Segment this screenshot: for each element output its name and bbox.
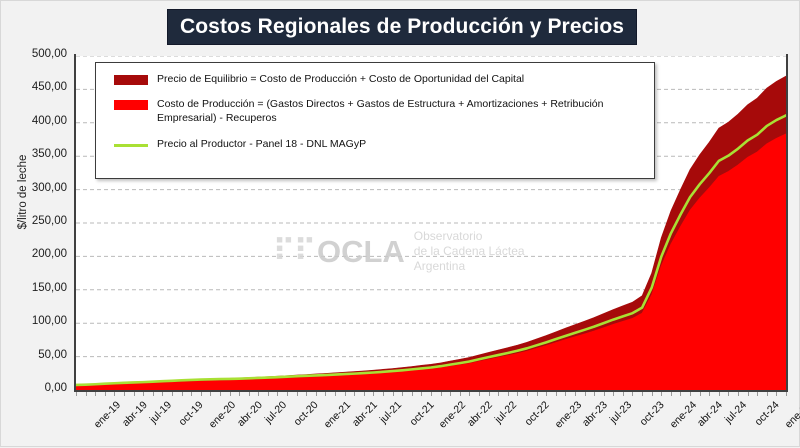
x-tick-mark — [76, 392, 77, 396]
y-tick-label: 100,00 — [9, 315, 67, 327]
x-tick-mark — [565, 392, 566, 396]
x-tick-mark — [479, 392, 480, 396]
x-tick-mark — [450, 392, 451, 396]
x-tick-mark — [239, 392, 240, 396]
x-tick-label: ene-25 — [782, 399, 800, 431]
y-tick-label: 500,00 — [9, 48, 67, 60]
y-tick-label: 350,00 — [9, 148, 67, 160]
x-tick-mark — [105, 392, 106, 396]
x-tick-label: oct-21 — [407, 399, 436, 428]
plot-right-border — [786, 54, 788, 392]
x-tick-mark — [613, 392, 614, 396]
x-tick-label: jul-21 — [377, 399, 404, 426]
x-tick-mark — [671, 392, 672, 396]
x-tick-mark — [431, 392, 432, 396]
x-tick-label: abr-19 — [120, 399, 150, 429]
y-tick-label: 450,00 — [9, 81, 67, 93]
x-tick-mark — [642, 392, 643, 396]
x-tick-label: ene-20 — [207, 399, 239, 431]
x-tick-label: abr-24 — [695, 399, 725, 429]
x-tick-label: ene-22 — [437, 399, 469, 431]
x-tick-mark — [172, 392, 173, 396]
x-tick-mark — [162, 392, 163, 396]
x-tick-mark — [690, 392, 691, 396]
x-tick-mark — [517, 392, 518, 396]
x-tick-mark — [143, 392, 144, 396]
chart-title: Costos Regionales de Producción y Precio… — [167, 9, 637, 45]
x-tick-mark — [182, 392, 183, 396]
x-tick-label: ene-19 — [92, 399, 124, 431]
legend-item-precio-equilibrio: Precio de Equilibrio = Costo de Producci… — [106, 72, 644, 86]
x-tick-mark — [776, 392, 777, 396]
x-tick-label: jul-20 — [262, 399, 289, 426]
x-tick-mark — [306, 392, 307, 396]
legend-item-precio-productor: Precio al Productor - Panel 18 - DNL MAG… — [106, 137, 644, 151]
chart-container: Costos Regionales de Producción y Precio… — [0, 0, 800, 447]
y-axis-ticks: 0,0050,00100,00150,00200,00250,00300,003… — [5, 1, 67, 448]
x-tick-mark — [277, 392, 278, 396]
legend-swatch-precio-productor — [114, 144, 148, 147]
legend-item-costo-produccion: Costo de Producción = (Gastos Directos +… — [106, 97, 644, 125]
x-tick-mark — [383, 392, 384, 396]
x-tick-mark — [748, 392, 749, 396]
x-tick-mark — [469, 392, 470, 396]
y-tick-label: 150,00 — [9, 282, 67, 294]
x-tick-label: abr-23 — [580, 399, 610, 429]
x-tick-mark — [220, 392, 221, 396]
x-tick-mark — [249, 392, 250, 396]
x-tick-mark — [86, 392, 87, 396]
y-tick-label: 200,00 — [9, 248, 67, 260]
x-tick-mark — [757, 392, 758, 396]
x-tick-mark — [201, 392, 202, 396]
x-tick-label: oct-24 — [753, 399, 782, 428]
x-tick-mark — [297, 392, 298, 396]
y-tick-label: 400,00 — [9, 115, 67, 127]
x-tick-mark — [268, 392, 269, 396]
y-tick-label: 250,00 — [9, 215, 67, 227]
x-tick-label: oct-19 — [177, 399, 206, 428]
x-tick-mark — [594, 392, 595, 396]
x-tick-mark — [95, 392, 96, 396]
x-tick-mark — [191, 392, 192, 396]
x-tick-label: jul-22 — [492, 399, 519, 426]
x-tick-mark — [325, 392, 326, 396]
x-tick-mark — [258, 392, 259, 396]
x-tick-mark — [134, 392, 135, 396]
x-tick-mark — [412, 392, 413, 396]
x-tick-mark — [345, 392, 346, 396]
x-tick-mark — [604, 392, 605, 396]
x-tick-label: jul-19 — [147, 399, 174, 426]
x-tick-mark — [680, 392, 681, 396]
x-tick-label: abr-22 — [465, 399, 495, 429]
x-tick-mark — [489, 392, 490, 396]
x-tick-mark — [728, 392, 729, 396]
x-tick-mark — [402, 392, 403, 396]
x-tick-mark — [508, 392, 509, 396]
legend-label-costo-produccion: Costo de Producción = (Gastos Directos +… — [157, 97, 644, 125]
y-tick-label: 50,00 — [9, 349, 67, 361]
x-tick-mark — [661, 392, 662, 396]
x-tick-label: jul-23 — [608, 399, 635, 426]
x-tick-mark — [575, 392, 576, 396]
x-tick-mark — [373, 392, 374, 396]
x-tick-label: ene-23 — [552, 399, 584, 431]
x-tick-mark — [652, 392, 653, 396]
x-tick-mark — [709, 392, 710, 396]
x-tick-mark — [393, 392, 394, 396]
x-tick-label: abr-20 — [235, 399, 265, 429]
x-tick-mark — [441, 392, 442, 396]
x-tick-mark — [786, 392, 787, 396]
x-tick-mark — [546, 392, 547, 396]
x-tick-mark — [335, 392, 336, 396]
x-tick-mark — [460, 392, 461, 396]
x-tick-label: jul-24 — [723, 399, 750, 426]
x-tick-mark — [556, 392, 557, 396]
chart-legend: Precio de Equilibrio = Costo de Producci… — [95, 62, 655, 179]
x-tick-mark — [738, 392, 739, 396]
x-tick-mark — [210, 392, 211, 396]
y-tick-label: 0,00 — [9, 382, 67, 394]
x-tick-mark — [364, 392, 365, 396]
x-tick-label: ene-24 — [667, 399, 699, 431]
x-tick-mark — [354, 392, 355, 396]
legend-label-precio-equilibrio: Precio de Equilibrio = Costo de Producci… — [157, 72, 524, 86]
legend-swatch-costo-produccion — [114, 100, 148, 110]
x-tick-mark — [230, 392, 231, 396]
x-tick-mark — [767, 392, 768, 396]
x-tick-label: oct-22 — [522, 399, 551, 428]
x-tick-mark — [153, 392, 154, 396]
x-tick-mark — [498, 392, 499, 396]
x-tick-mark — [124, 392, 125, 396]
x-tick-mark — [537, 392, 538, 396]
x-tick-label: ene-21 — [322, 399, 354, 431]
x-tick-label: oct-23 — [637, 399, 666, 428]
x-tick-mark — [527, 392, 528, 396]
y-tick-label: 300,00 — [9, 182, 67, 194]
x-tick-label: abr-21 — [350, 399, 380, 429]
x-tick-mark — [114, 392, 115, 396]
legend-swatch-precio-equilibrio — [114, 75, 148, 85]
x-tick-mark — [421, 392, 422, 396]
x-tick-mark — [585, 392, 586, 396]
x-tick-mark — [316, 392, 317, 396]
legend-label-precio-productor: Precio al Productor - Panel 18 - DNL MAG… — [157, 137, 366, 151]
x-tick-mark — [700, 392, 701, 396]
x-tick-mark — [287, 392, 288, 396]
x-tick-label: oct-20 — [292, 399, 321, 428]
x-tick-mark — [632, 392, 633, 396]
x-tick-mark — [719, 392, 720, 396]
x-tick-mark — [623, 392, 624, 396]
